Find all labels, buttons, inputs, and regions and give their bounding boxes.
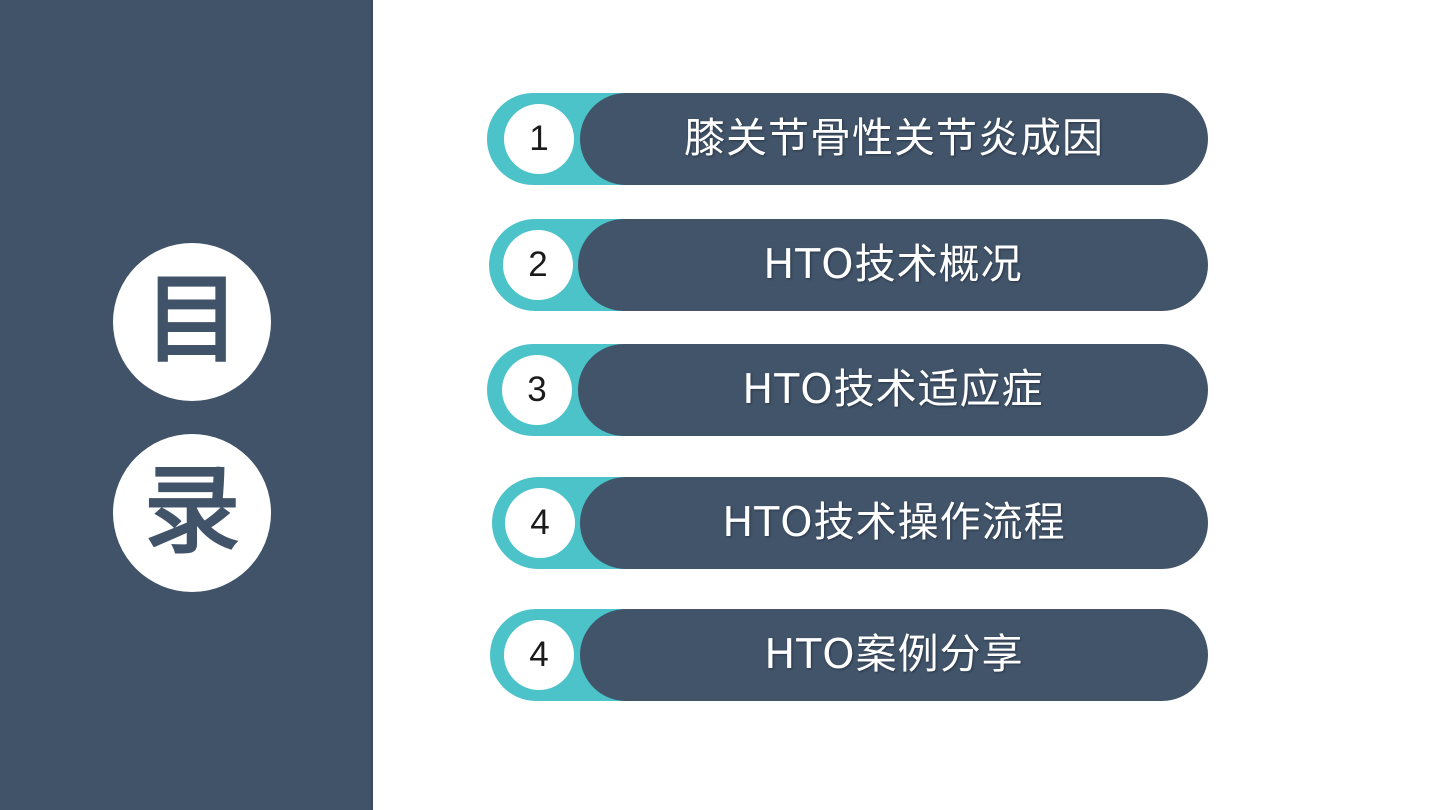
agenda-item-1-label: 膝关节骨性关节炎成因 xyxy=(684,118,1104,159)
slide-canvas: 目 录 膝关节骨性关节炎成因 1 HTO技术概况 2 xyxy=(0,0,1440,810)
agenda-item-4-dark-pill: HTO技术操作流程 xyxy=(580,477,1208,569)
agenda-item-1-dark-pill: 膝关节骨性关节炎成因 xyxy=(580,93,1208,185)
agenda-item-1-badge: 1 xyxy=(504,104,574,174)
agenda-item-2-number: 2 xyxy=(528,247,547,282)
agenda-item-3[interactable]: HTO技术适应症 3 xyxy=(487,344,1208,436)
agenda-item-3-badge: 3 xyxy=(502,355,572,425)
agenda-item-5-number: 4 xyxy=(529,637,548,672)
agenda-item-2-label: HTO技术概况 xyxy=(763,244,1022,285)
agenda-item-4[interactable]: HTO技术操作流程 4 xyxy=(492,477,1208,569)
agenda-item-5-dark-pill: HTO案例分享 xyxy=(580,609,1208,701)
agenda-item-4-badge: 4 xyxy=(505,488,575,558)
agenda-item-4-number: 4 xyxy=(530,505,549,540)
agenda-list: 膝关节骨性关节炎成因 1 HTO技术概况 2 HTO技术适应症 3 xyxy=(0,0,1440,810)
agenda-item-5[interactable]: HTO案例分享 4 xyxy=(490,609,1208,701)
agenda-item-2-dark-pill: HTO技术概况 xyxy=(578,219,1208,311)
agenda-item-3-number: 3 xyxy=(527,372,546,407)
agenda-item-2-badge: 2 xyxy=(503,230,573,300)
agenda-item-4-label: HTO技术操作流程 xyxy=(722,502,1065,543)
agenda-item-2[interactable]: HTO技术概况 2 xyxy=(489,219,1208,311)
agenda-item-3-dark-pill: HTO技术适应症 xyxy=(578,344,1208,436)
agenda-item-5-badge: 4 xyxy=(504,620,574,690)
agenda-item-3-label: HTO技术适应症 xyxy=(742,369,1043,410)
agenda-item-5-label: HTO案例分享 xyxy=(764,634,1023,675)
agenda-item-1[interactable]: 膝关节骨性关节炎成因 1 xyxy=(487,93,1208,185)
agenda-item-1-number: 1 xyxy=(529,121,548,156)
